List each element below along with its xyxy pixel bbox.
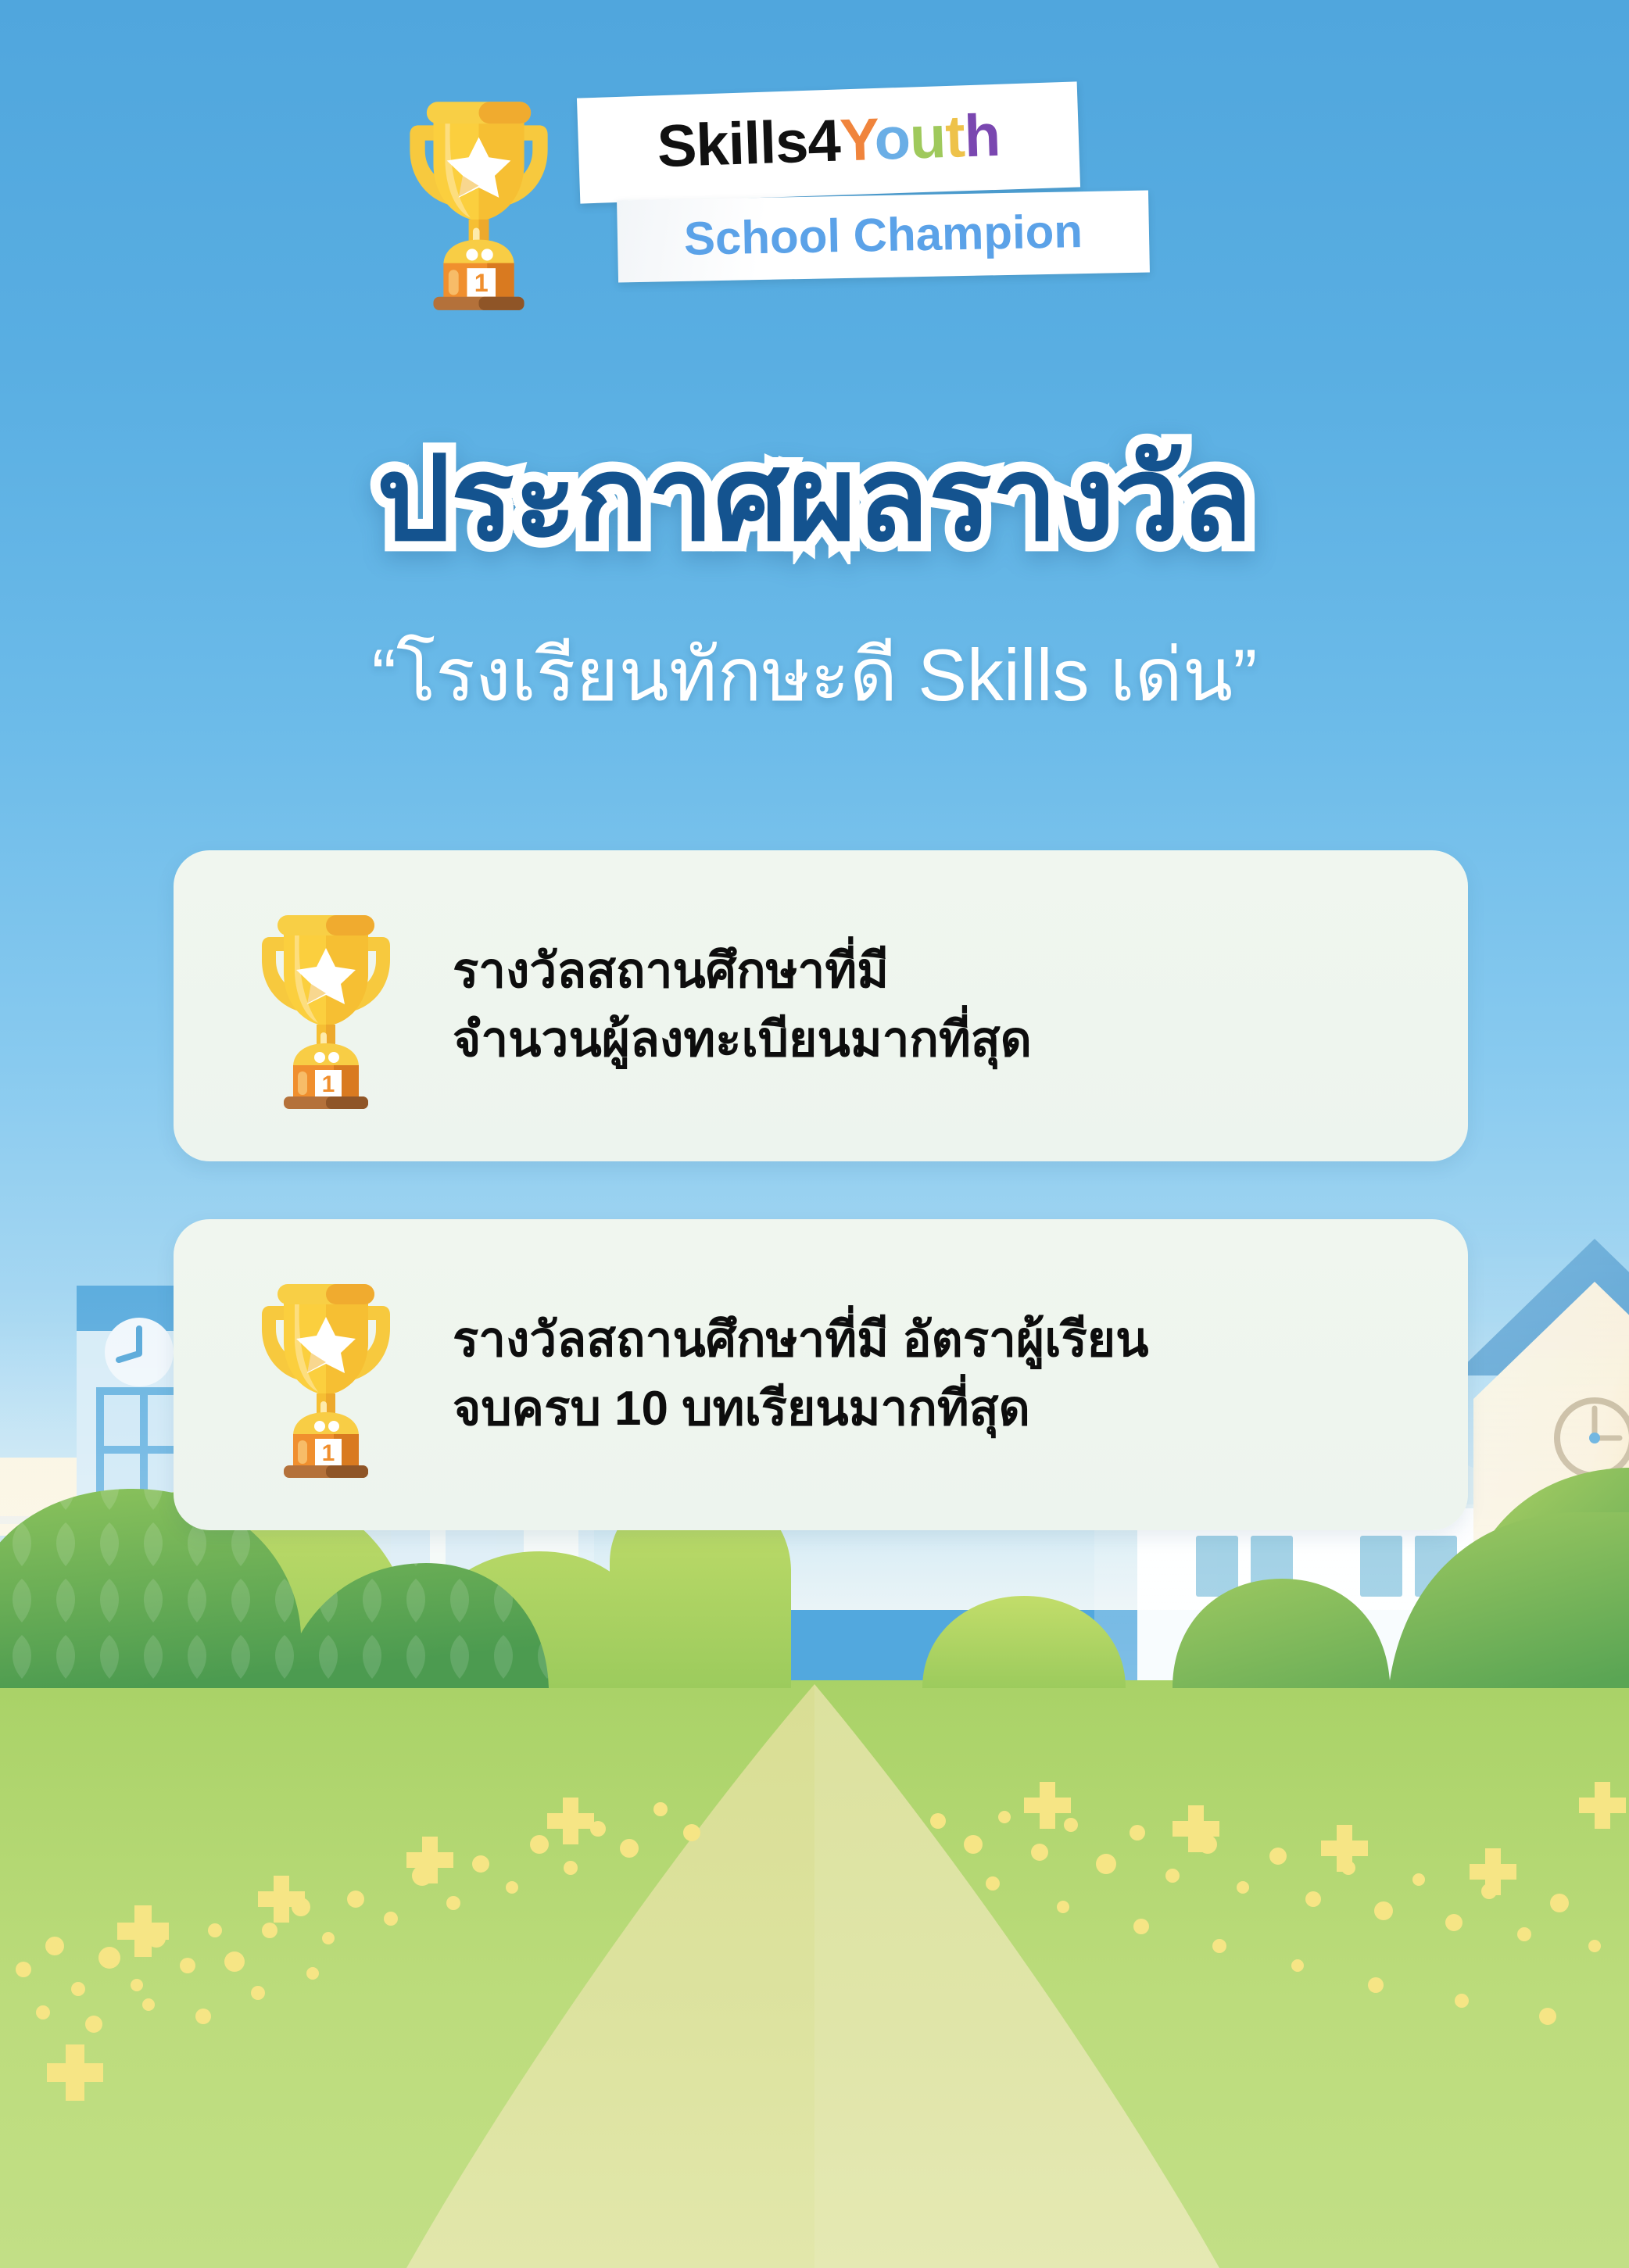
award-card-text: รางวัลสถานศึกษาที่มี อัตราผู้เรียน จบครบ… — [453, 1306, 1148, 1443]
poster-root: 1 Skills4Youth School Champion ประกาศผลร… — [0, 0, 1629, 2268]
award-line: รางวัลสถานศึกษาที่มี — [453, 937, 1032, 1006]
svg-text:1: 1 — [322, 1071, 335, 1097]
award-line: รางวัลสถานศึกษาที่มี อัตราผู้เรียน — [453, 1306, 1148, 1375]
award-line: จบครบ 10 บทเรียนมากที่สุด — [453, 1375, 1148, 1443]
svg-text:1: 1 — [322, 1440, 335, 1466]
award-card-registrations[interactable]: 1 รางวัลสถานศึกษาที่มี จำนวนผู้ลงทะเบียน… — [174, 850, 1468, 1161]
trophy-icon: 1 — [248, 1270, 404, 1479]
award-card-completions[interactable]: 1 รางวัลสถานศึกษาที่มี อัตราผู้เรียน จบค… — [174, 1219, 1468, 1530]
award-card-text: รางวัลสถานศึกษาที่มี จำนวนผู้ลงทะเบียนมา… — [453, 937, 1032, 1075]
award-line: จำนวนผู้ลงทะเบียนมากที่สุด — [453, 1006, 1032, 1075]
trophy-icon: 1 — [248, 901, 404, 1111]
award-card-list: 1 รางวัลสถานศึกษาที่มี จำนวนผู้ลงทะเบียน… — [0, 0, 1629, 2268]
